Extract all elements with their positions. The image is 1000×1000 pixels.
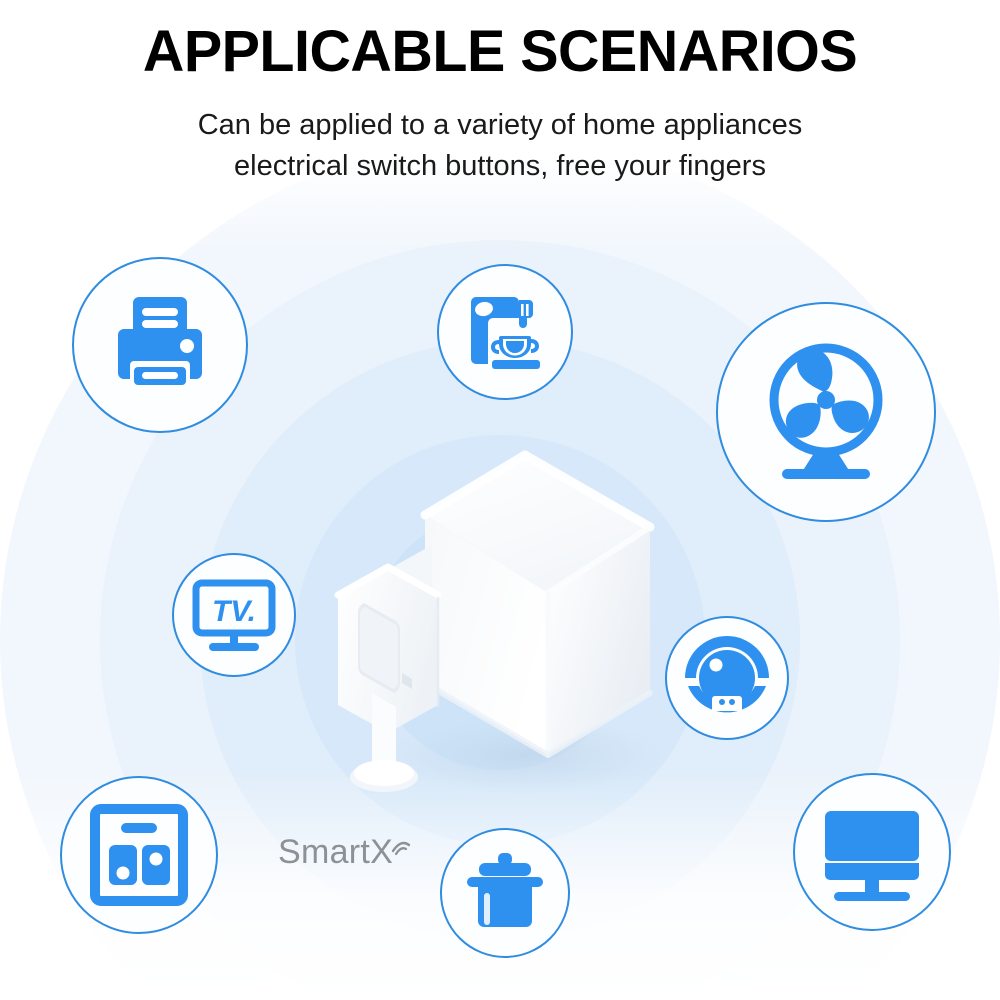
coffee-machine-icon (459, 286, 551, 378)
fingerbot-illustration (310, 425, 710, 805)
product-image (310, 425, 710, 805)
scenario-bubble-electric-fan[interactable] (716, 302, 936, 522)
scenario-bubble-wall-switch[interactable] (60, 776, 218, 934)
wall-switch-icon (87, 803, 191, 907)
subtitle-line-1: Can be applied to a variety of home appl… (0, 105, 1000, 146)
fan-icon (750, 336, 902, 488)
tv-icon: TV. (190, 571, 278, 659)
scenario-bubble-monitor[interactable] (793, 773, 951, 931)
monitor-icon (819, 799, 925, 905)
brand-name: SmartX (278, 833, 393, 872)
brand-logo: SmartX (278, 833, 412, 872)
page-subtitle: Can be applied to a variety of home appl… (0, 83, 1000, 187)
header: APPLICABLE SCENARIOS Can be applied to a… (0, 0, 1000, 187)
page-title: APPLICABLE SCENARIOS (5, 0, 995, 83)
subtitle-line-2: electrical switch buttons, free your fin… (0, 146, 1000, 187)
printer-icon (104, 289, 216, 401)
rice-cooker-icon (461, 849, 549, 937)
arm-foot-pad-top (354, 760, 414, 786)
scenario-bubble-television[interactable]: TV. (172, 553, 296, 677)
wifi-signal-icon (390, 827, 412, 866)
scenario-bubble-coffee-machine[interactable] (437, 264, 573, 400)
scenario-bubble-rice-cooker[interactable] (440, 828, 570, 958)
scenario-bubble-robot-vacuum[interactable] (665, 616, 789, 740)
tv-screen-label: TV. (212, 595, 256, 628)
robot-vacuum-icon (680, 631, 774, 725)
scenario-poster: APPLICABLE SCENARIOS Can be applied to a… (0, 0, 1000, 1000)
scenario-bubble-printer[interactable] (72, 257, 248, 433)
